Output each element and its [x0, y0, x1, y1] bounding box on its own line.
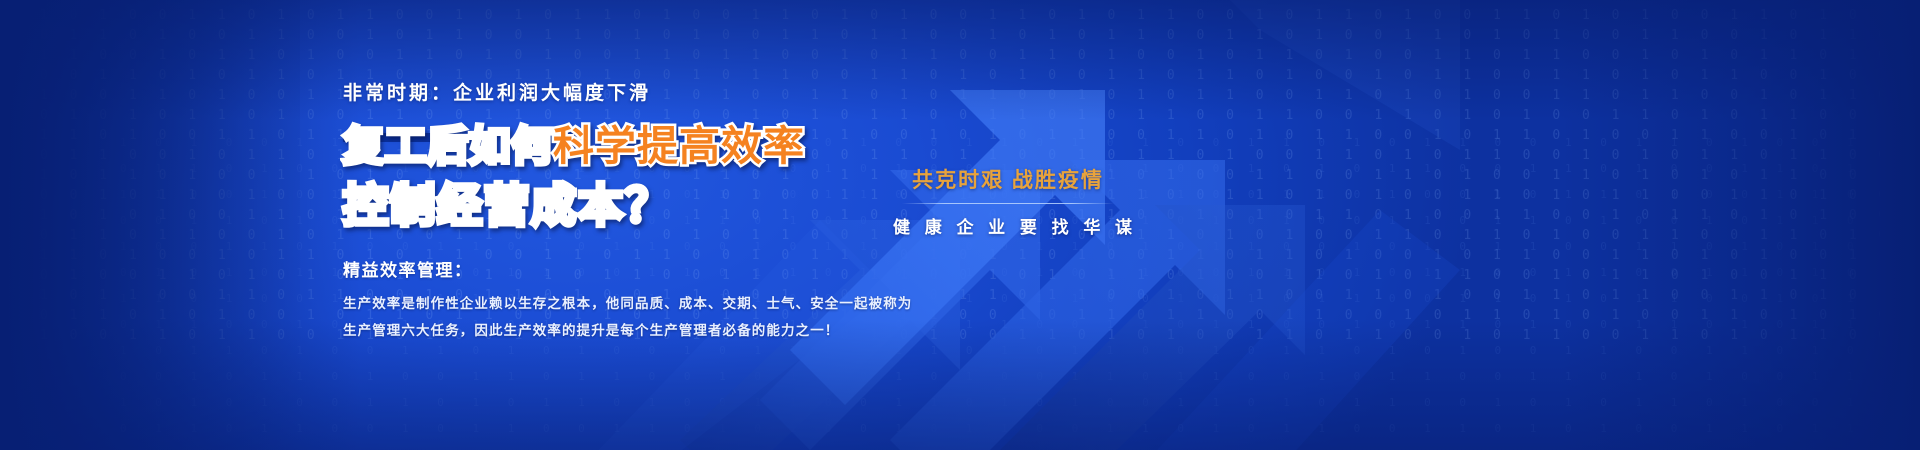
banner-content: 非常时期：企业利润大幅度下滑 复工后如何科学提高效率 控制经营成本？ 精益效率管… [343, 0, 963, 450]
left-shade-overlay [0, 0, 300, 450]
headline-line-1: 复工后如何科学提高效率 [343, 126, 983, 167]
body-paragraph: 生产效率是制作性企业赖以生存之根本，他同品质、成本、交期、士气、安全一起被称为生… [343, 290, 923, 344]
slogan-secondary: 健 康 企 业 要 找 华 谋 [893, 213, 1123, 238]
slogan-primary: 共克时艰 战胜疫情 [893, 164, 1123, 194]
banner-headline: 复工后如何科学提高效率 控制经营成本？ [343, 126, 983, 228]
headline-line-1-highlight: 科学提高效率 [553, 123, 805, 169]
promo-banner: 1 0 1 0 0 1 1 0 1 0 1 1 0 0 1 0 1 0 1 1 … [0, 0, 1920, 450]
slogan-divider [902, 203, 1114, 204]
section-label: 精益效率管理： [343, 256, 473, 281]
banner-subtitle: 非常时期：企业利润大幅度下滑 [343, 78, 651, 105]
left-vignette [0, 0, 360, 450]
slogan-block: 共克时艰 战胜疫情 健 康 企 业 要 找 华 谋 [893, 164, 1123, 238]
headline-line-1-plain: 复工后如何 [343, 123, 553, 169]
right-vignette [1560, 0, 1920, 450]
headline-line-2: 控制经营成本？ [343, 183, 983, 228]
